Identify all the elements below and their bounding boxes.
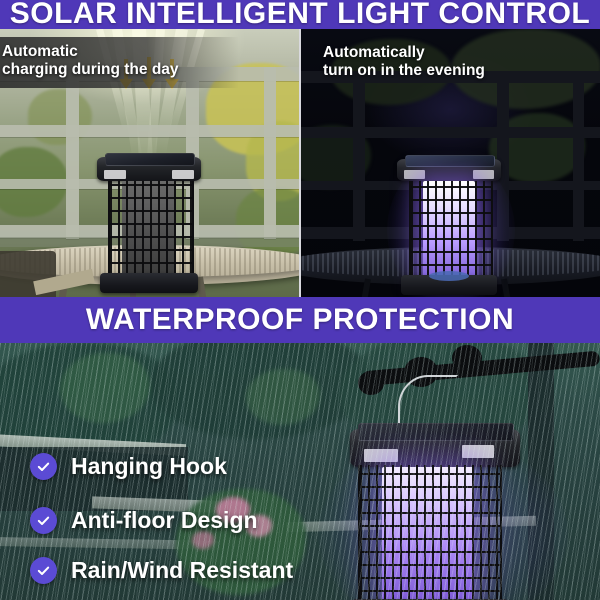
- banner-solar-light-control: SOLAR INTELLIGENT LIGHT CONTROL: [0, 0, 600, 30]
- feature-label: Anti-floor Design: [71, 507, 258, 534]
- photo-rain-waterproof: Hanging Hook Anti-floor Design Rain/Wind…: [0, 343, 600, 600]
- photo-divider: [299, 29, 301, 297]
- photo-night-auto-on: Automatically turn on in the evening: [301, 29, 600, 297]
- feature-label: Hanging Hook: [71, 453, 227, 480]
- banner-top-text: SOLAR INTELLIGENT LIGHT CONTROL: [10, 0, 590, 30]
- banner-waterproof-protection: WATERPROOF PROTECTION: [0, 297, 600, 343]
- check-circle-icon: [30, 507, 57, 534]
- list-item: Anti-floor Design: [30, 507, 258, 534]
- feature-checklist: Hanging Hook Anti-floor Design Rain/Wind…: [0, 343, 600, 600]
- check-circle-icon: [30, 453, 57, 480]
- photo-day-charging: Automatic charging during the day: [0, 29, 299, 297]
- list-item: Rain/Wind Resistant: [30, 557, 293, 584]
- label-automatic-charging: Automatic charging during the day: [0, 37, 239, 88]
- label-automatically-turn-on: Automatically turn on in the evening: [315, 38, 507, 89]
- list-item: Hanging Hook: [30, 453, 227, 480]
- feature-label: Rain/Wind Resistant: [71, 557, 293, 584]
- check-circle-icon: [30, 557, 57, 584]
- product-feature-image: SOLAR INTELLIGENT LIGHT CONTROL: [0, 0, 600, 600]
- banner-middle-text: WATERPROOF PROTECTION: [86, 303, 514, 337]
